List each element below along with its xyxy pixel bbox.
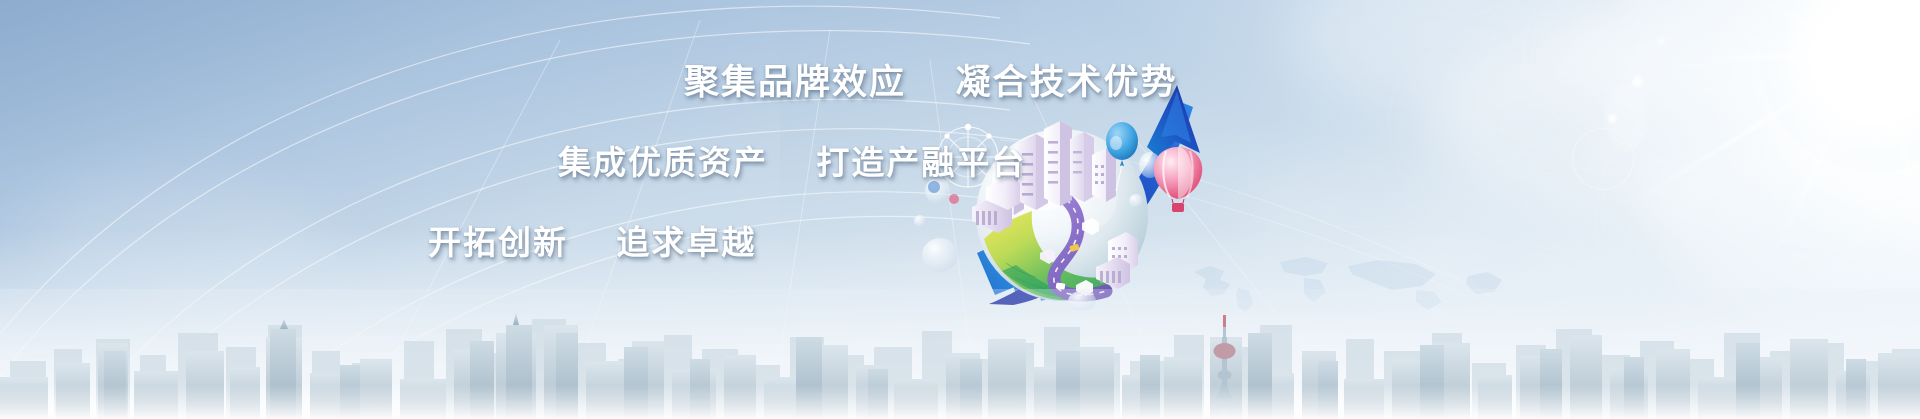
headline-3-right: 追求卓越	[616, 224, 756, 261]
headline-1-left: 聚集品牌效应	[684, 63, 906, 102]
headline-line-3: 开拓创新 追求卓越	[428, 216, 756, 264]
globe-illustration	[910, 95, 1210, 310]
headline-2-right: 打造产融平台	[816, 144, 1026, 181]
headline-1-right: 凝合技术优势	[955, 63, 1177, 102]
promo-banner: 聚集品牌效应 凝合技术优势 集成优质资产 打造产融平台 开拓创新 追求卓越	[0, 0, 1920, 419]
headline-line-1: 聚集品牌效应 凝合技术优势	[684, 54, 1178, 105]
headline-3-left: 开拓创新	[428, 224, 568, 261]
headline-line-2: 集成优质资产 打造产融平台	[558, 136, 1026, 184]
headline-2-left: 集成优质资产	[558, 144, 768, 181]
skyline-bottom-fade	[0, 385, 1920, 419]
